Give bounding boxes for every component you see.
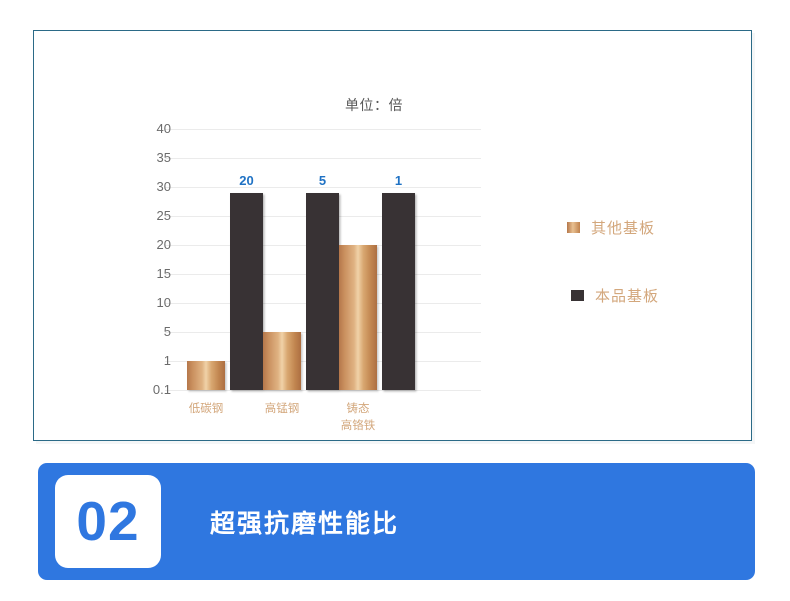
bar-other-substrate [263, 332, 301, 390]
y-axis-tick-label: 0.1 [137, 382, 171, 397]
legend-item-other: 其他基板 [567, 217, 655, 238]
chart-card: 单位：倍 40353025201510510.1 2051 低碳钢高锰钢铸态高铬… [33, 30, 752, 441]
category-label-line: 高锰钢 [246, 401, 318, 418]
category-label-line: 高铬铁 [322, 418, 394, 435]
bar-ratio-label: 1 [368, 173, 429, 188]
section-number-box: 02 [55, 475, 161, 568]
section-title: 超强抗磨性能比 [210, 463, 399, 580]
bar-product-substrate [306, 193, 339, 390]
y-axis-tick-label: 30 [137, 179, 171, 194]
bar-product-substrate [230, 193, 263, 390]
gridline [165, 158, 481, 159]
chart-unit-title: 单位：倍 [314, 95, 434, 115]
y-axis-tick-label: 1 [137, 353, 171, 368]
y-axis-tick-label: 10 [137, 295, 171, 310]
plot-area: 40353025201510510.1 2051 低碳钢高锰钢铸态高铬铁 [135, 121, 485, 396]
category-label-line: 铸态 [322, 401, 394, 418]
bar-ratio-label: 20 [216, 173, 277, 188]
bar-other-substrate [339, 245, 377, 390]
legend-item-product: 本品基板 [571, 285, 659, 306]
legend-swatch-product-icon [571, 290, 584, 301]
legend-swatch-other-icon [567, 222, 580, 233]
category-label: 铸态高铬铁 [322, 401, 394, 435]
category-label: 低碳钢 [170, 401, 242, 418]
bar-ratio-label: 5 [292, 173, 353, 188]
category-label-line: 低碳钢 [170, 401, 242, 418]
y-axis-tick-label: 5 [137, 324, 171, 339]
y-axis-tick-label: 15 [137, 266, 171, 281]
y-axis-tick-label: 40 [137, 121, 171, 136]
y-axis-tick-label: 35 [137, 150, 171, 165]
gridline [165, 129, 481, 130]
slide-root: 单位：倍 40353025201510510.1 2051 低碳钢高锰钢铸态高铬… [0, 0, 790, 601]
bar-product-substrate [382, 193, 415, 390]
legend-label-other: 其他基板 [591, 217, 655, 238]
y-axis-tick-label: 25 [137, 208, 171, 223]
bar-other-substrate [187, 361, 225, 390]
section-number: 02 [76, 494, 139, 549]
section-banner: 02 超强抗磨性能比 [38, 463, 755, 580]
y-axis-tick-label: 20 [137, 237, 171, 252]
category-label: 高锰钢 [246, 401, 318, 418]
legend-label-product: 本品基板 [595, 285, 659, 306]
gridline [165, 390, 481, 391]
